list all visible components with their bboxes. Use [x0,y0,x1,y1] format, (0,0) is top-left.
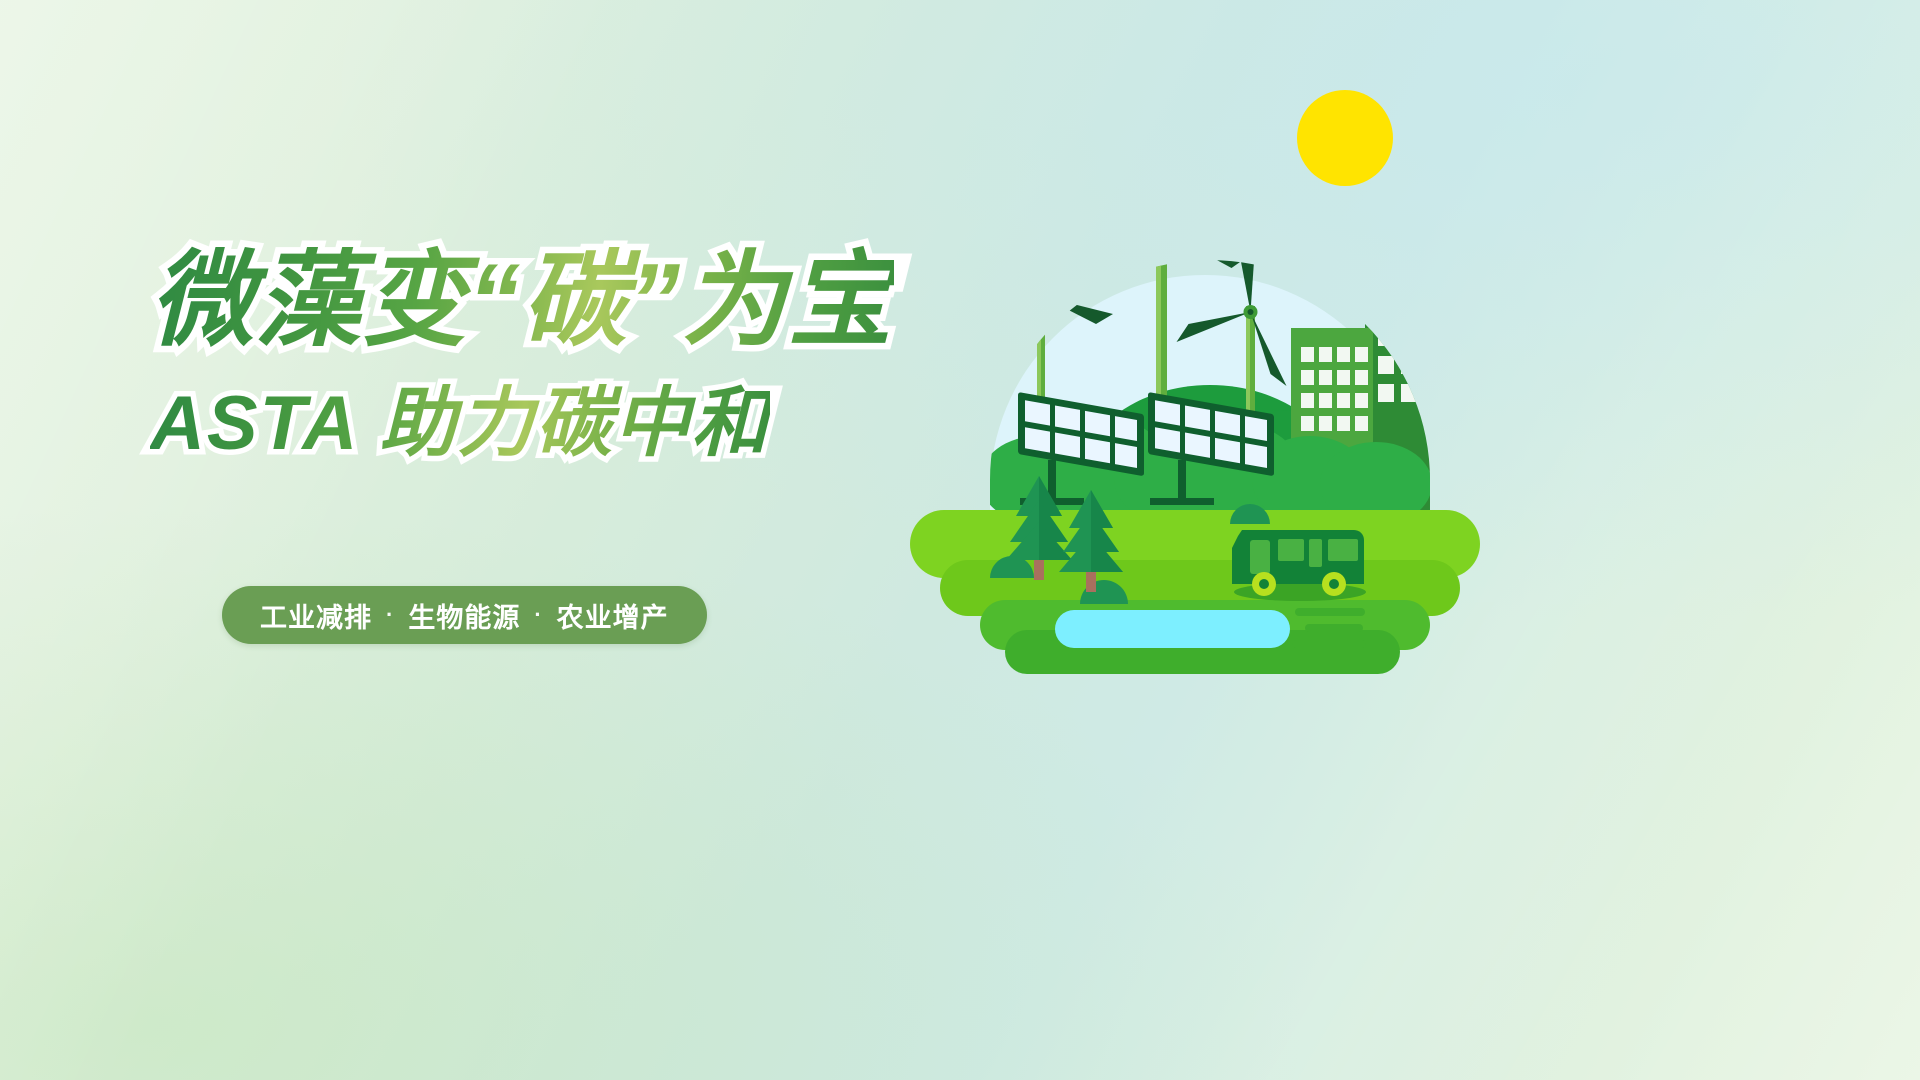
headline-line-1: 微藻变“碳”为宝 微藻变“碳”为宝 [150,243,910,375]
bus-icon [1232,530,1366,601]
hero-banner: 微藻变“碳”为宝 微藻变“碳”为宝 ASTA 助力碳中和 ASTA 助力碳中和 … [0,0,1920,1080]
headline-line-2: ASTA 助力碳中和 ASTA 助力碳中和 [150,381,910,477]
headline-line-1-fill: 微藻变“碳”为宝 [150,243,894,359]
tagline-pill: 工业减排 · 生物能源 · 农业增产 [222,586,707,644]
headline-block: 微藻变“碳”为宝 微藻变“碳”为宝 ASTA 助力碳中和 ASTA 助力碳中和 [150,243,910,477]
lake-water [1055,610,1290,648]
green-city-eco-illustration [910,60,1510,680]
sun-icon [1297,90,1393,186]
tagline-separator-1: · [386,602,394,628]
tagline-separator-2: · [534,602,542,628]
tagline-item-2: 生物能源 [408,596,520,635]
headline-line-2-fill: ASTA 助力碳中和 [150,381,770,466]
tagline-item-1: 工业减排 [260,596,372,635]
tagline-item-3: 农业增产 [557,596,669,635]
